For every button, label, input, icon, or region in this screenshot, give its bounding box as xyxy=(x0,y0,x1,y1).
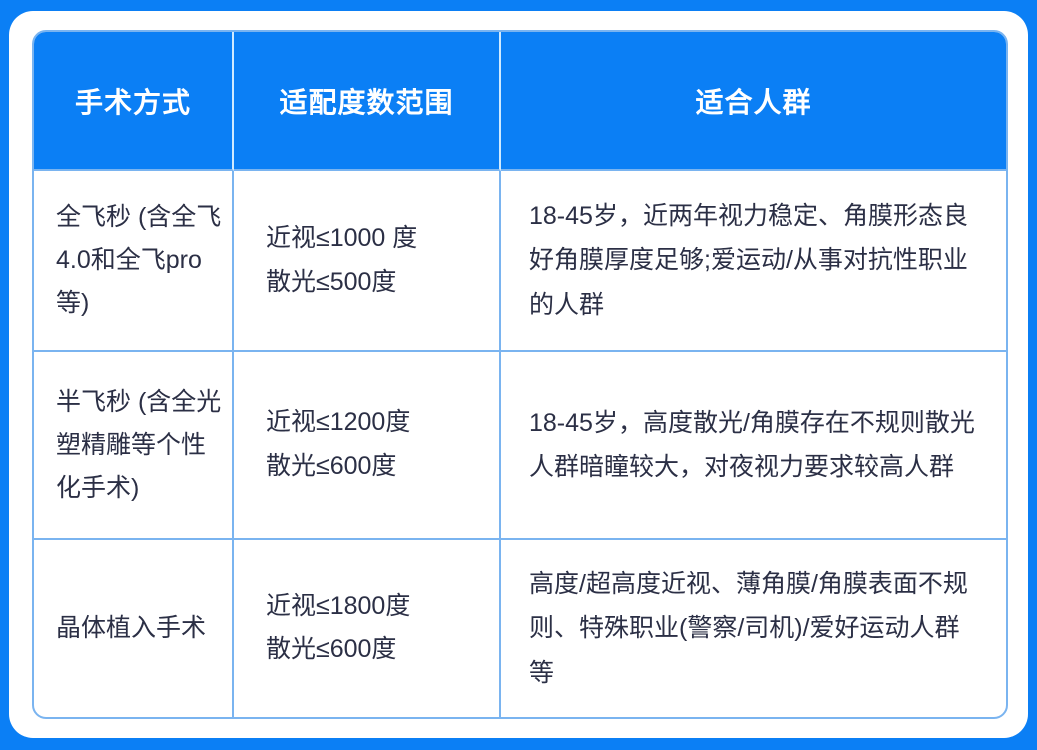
cell-method: 半飞秒 (含全光塑精雕等个性化手术) xyxy=(34,352,234,539)
page-background: 手术方式 适配度数范围 适合人群 全飞秒 (含全飞4.0和全飞pro等) 近视≤… xyxy=(0,0,1037,750)
table-body: 全飞秒 (含全飞4.0和全飞pro等) 近视≤1000 度 散光≤500度 18… xyxy=(34,171,1006,717)
table-card: 手术方式 适配度数范围 适合人群 全飞秒 (含全飞4.0和全飞pro等) 近视≤… xyxy=(9,11,1028,738)
surgery-comparison-table: 手术方式 适配度数范围 适合人群 全飞秒 (含全飞4.0和全飞pro等) 近视≤… xyxy=(32,30,1008,719)
table-header-row: 手术方式 适配度数范围 适合人群 xyxy=(34,32,1006,171)
cell-audience: 18-45岁，高度散光/角膜存在不规则散光人群暗瞳较大，对夜视力要求较高人群 xyxy=(501,352,1006,539)
table-row: 晶体植入手术 近视≤1800度 散光≤600度 高度/超高度近视、薄角膜/角膜表… xyxy=(34,540,1006,717)
column-header-range: 适配度数范围 xyxy=(234,32,501,171)
table-row: 全飞秒 (含全飞4.0和全飞pro等) 近视≤1000 度 散光≤500度 18… xyxy=(34,171,1006,352)
cell-range: 近视≤1200度 散光≤600度 xyxy=(234,352,501,539)
cell-audience: 高度/超高度近视、薄角膜/角膜表面不规则、特殊职业(警察/司机)/爱好运动人群等 xyxy=(501,540,1006,717)
cell-method: 全飞秒 (含全飞4.0和全飞pro等) xyxy=(34,171,234,352)
column-header-method: 手术方式 xyxy=(34,32,234,171)
cell-range: 近视≤1800度 散光≤600度 xyxy=(234,540,501,717)
cell-method: 晶体植入手术 xyxy=(34,540,234,717)
cell-range: 近视≤1000 度 散光≤500度 xyxy=(234,171,501,352)
column-header-audience: 适合人群 xyxy=(501,32,1006,171)
cell-audience: 18-45岁，近两年视力稳定、角膜形态良好角膜厚度足够;爱运动/从事对抗性职业的… xyxy=(501,171,1006,352)
table-row: 半飞秒 (含全光塑精雕等个性化手术) 近视≤1200度 散光≤600度 18-4… xyxy=(34,352,1006,539)
table-header: 手术方式 适配度数范围 适合人群 xyxy=(34,32,1006,171)
